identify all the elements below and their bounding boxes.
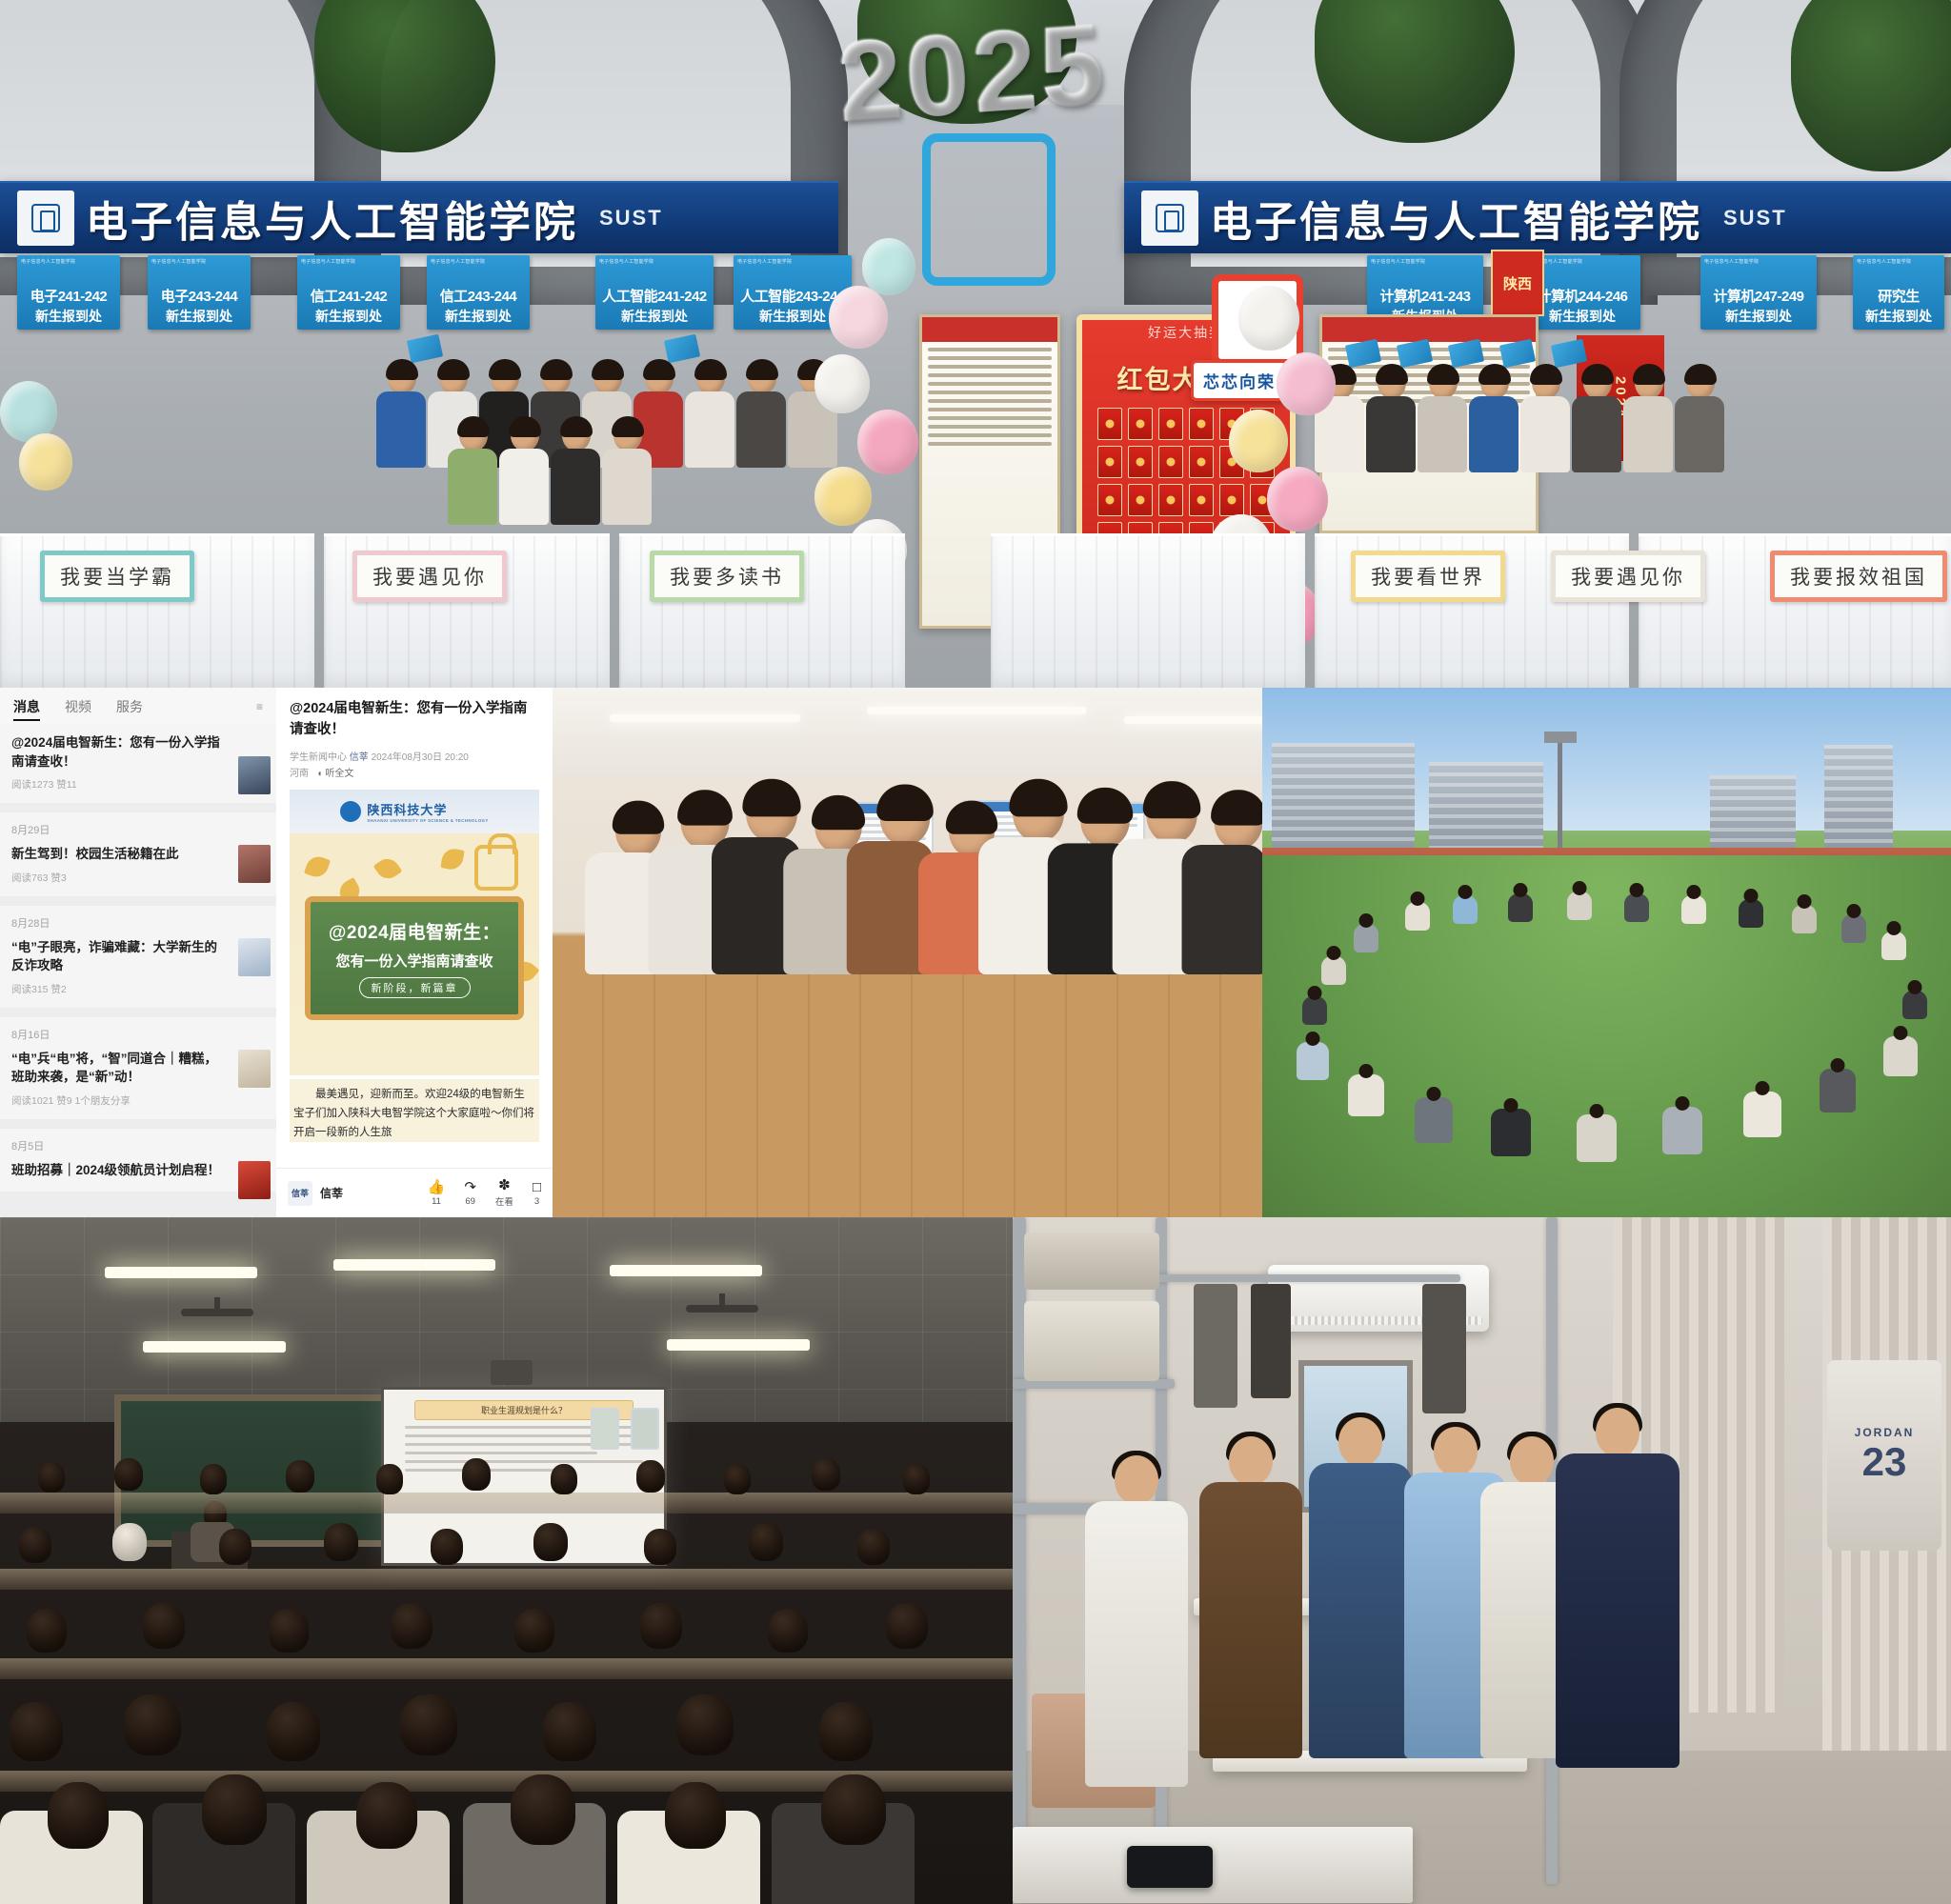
more-icon[interactable]: ≡: [256, 700, 263, 713]
balloon: [19, 433, 72, 491]
article-paragraph: 最美遇见，迎新而至。欢迎24级的电智新生宝子们加入陕科大电智学院这个大家庭啦～你…: [293, 1085, 535, 1142]
seated-student: [1508, 893, 1533, 922]
article-title: 班助招募｜2024级领航员计划启程！: [11, 1161, 265, 1180]
photo-dorm-visit: JORDAN 23: [1013, 1217, 1951, 1904]
seated-student: [1354, 924, 1378, 952]
cover-headline-1: @2024届电智新生：: [329, 918, 500, 944]
balloon: [1229, 410, 1288, 472]
balloon: [815, 354, 870, 413]
desk-flag: 电子信息与人工智能学院 电子241-242 新生报到处: [17, 255, 120, 330]
person: [1469, 367, 1520, 472]
article-stats: 阅读1021 赞9 1个朋友分享: [11, 1093, 265, 1108]
tab-messages[interactable]: 消息: [13, 697, 40, 716]
clothes-rod: [1156, 1274, 1460, 1282]
banner-left-abbr: SUST: [599, 206, 663, 230]
person: [1623, 367, 1675, 472]
desk-flag: 电子信息与人工智能学院 计算机247-249 新生报到处: [1700, 255, 1817, 330]
comment-count: 3: [534, 1196, 539, 1207]
seated-student: [1405, 902, 1430, 931]
article-stats: 阅读315 赞2: [11, 982, 265, 996]
article-datetime: 2024年08月30日 20:20: [372, 752, 469, 763]
chip-slogan-sign: 芯芯向荣: [1191, 360, 1288, 401]
seated-student: [1302, 996, 1327, 1025]
seated-student: [1624, 893, 1649, 922]
floodlight-head: [1544, 732, 1577, 743]
seated-student: [1348, 1074, 1384, 1116]
audience-seating: [0, 1456, 1013, 1904]
seated-student: [1577, 1114, 1617, 1162]
campus-building: [1824, 745, 1893, 850]
side-banner-province: 陕西: [1491, 250, 1544, 316]
person: [1182, 794, 1263, 974]
article-title: 新生驾到！校园生活秘籍在此: [11, 845, 265, 864]
person: [602, 419, 654, 525]
balloon: [829, 286, 888, 349]
like-button[interactable]: 👍 11: [428, 1180, 446, 1207]
ceiling-light: [867, 707, 1086, 714]
balloon: [1267, 467, 1328, 531]
list-item[interactable]: 8月28日 “电”子眼亮，诈骗难藏：大学新生的反诈攻略 阅读315 赞2: [0, 906, 276, 1008]
list-item[interactable]: 8月16日 “电”兵“电”将，“智”同道合｜糟糕，班助来袭，是“新”动！ 阅读1…: [0, 1017, 276, 1119]
article-thumbnail: [238, 1161, 271, 1199]
seated-student: [1883, 1036, 1918, 1076]
thumbs-up-icon: 👍: [428, 1180, 446, 1194]
ceiling-light: [610, 714, 800, 722]
jersey-text: JORDAN: [1855, 1426, 1915, 1439]
wow-label: 在看: [495, 1194, 513, 1208]
wish-sign: 我要遇见你: [352, 551, 507, 602]
seated-student: [1453, 895, 1478, 924]
seated-student: [1662, 1107, 1702, 1154]
ceiling-fan-icon: [686, 1305, 758, 1313]
ceiling: [553, 688, 1262, 778]
person: [551, 419, 602, 525]
person: [1418, 367, 1469, 472]
article-title: “电”子眼亮，诈骗难藏：大学新生的反诈攻略: [11, 938, 265, 975]
campus-building: [1429, 762, 1543, 850]
wish-sign: 我要当学霸: [40, 551, 194, 602]
person: [1520, 367, 1572, 472]
desk-flag: 电子信息与人工智能学院 研究生 新生报到处: [1853, 255, 1944, 330]
hanging-clothes: [1422, 1284, 1466, 1413]
listen-label: 听全文: [325, 766, 353, 782]
comment-button[interactable]: □ 3: [533, 1180, 541, 1207]
cover-headline-2: 您有一份入学指南请查收: [335, 951, 493, 971]
article-stats: 阅读763 赞3: [11, 871, 265, 885]
registration-table: [991, 533, 1305, 688]
cover-university-header: 陕西科技大学 SHAANXI UNIVERSITY OF SCIENCE & T…: [290, 790, 539, 833]
balloon: [1238, 286, 1299, 351]
seated-student: [1491, 1109, 1531, 1156]
student-foreground: [1546, 1408, 1689, 1827]
list-item[interactable]: @2024届电智新生：您有一份入学指南请查收！ 阅读1273 赞11: [0, 724, 276, 803]
leaf-decoration-icon: [440, 847, 464, 871]
wall-poster: [631, 1408, 659, 1450]
seated-student: [1841, 914, 1866, 943]
account-avatar: 信莘: [288, 1181, 312, 1206]
article-thumbnail: [238, 938, 271, 976]
banner-right-abbr: SUST: [1723, 206, 1787, 230]
desk-flag: 电子信息与人工智能学院 信工241-242 新生报到处: [297, 255, 400, 330]
desk-flag: 电子信息与人工智能学院 信工243-244 新生报到处: [427, 255, 530, 330]
person: [499, 419, 551, 525]
backpack-icon: [474, 845, 518, 891]
seated-student: [1739, 899, 1763, 928]
ceiling-light: [1124, 716, 1262, 724]
account-name: 信莘: [320, 1185, 343, 1201]
article-title: @2024届电智新生：您有一份入学指南请查收！: [11, 733, 265, 771]
ceiling-light: [610, 1265, 762, 1276]
person: [448, 419, 499, 525]
list-item[interactable]: 8月5日 班助招募｜2024级领航员计划启程！: [0, 1129, 276, 1192]
circuit-emblem-icon: [922, 133, 1056, 286]
wechat-article-list-screenshot: 消息 视频 服务 ≡ @2024届电智新生：您有一份入学指南请查收！ 阅读127…: [0, 688, 276, 1217]
leaf-decoration-icon: [304, 852, 331, 879]
campus-building: [1710, 775, 1796, 850]
comment-bubble-icon: □: [533, 1180, 541, 1194]
tab-services[interactable]: 服务: [116, 697, 143, 716]
hanging-clothes: [1251, 1284, 1291, 1398]
article-stats: 阅读1273 赞11: [11, 777, 265, 792]
photo-registration-booths: 2025 电子信息与人工智能学院 SUST 电子信息与人工智能学院 SUST 电…: [0, 0, 1951, 688]
seated-student: [1881, 932, 1906, 960]
chalkboard-graphic: @2024届电智新生： 您有一份入学指南请查收 新阶段，新篇章: [305, 896, 524, 1020]
student-group-right: [1315, 367, 1726, 472]
projector: [491, 1360, 533, 1385]
photo-student-group-indoor: [553, 688, 1262, 1217]
banner-left-college: 电子信息与人工智能学院: [86, 188, 578, 249]
counselor: [1189, 1436, 1313, 1817]
balloon-year-digits: 2025: [835, 0, 1113, 149]
hanging-jersey: JORDAN 23: [1827, 1360, 1941, 1551]
wall-poster: [591, 1408, 619, 1450]
article-thumbnail: [238, 1050, 271, 1088]
seated-student: [1902, 991, 1927, 1019]
ceiling-light: [667, 1339, 810, 1351]
seated-student: [1297, 1042, 1329, 1080]
desk-flag: 电子信息与人工智能学院 人工智能241-242 新生报到处: [595, 255, 714, 330]
banner-right-college: 电子信息与人工智能学院: [1210, 188, 1702, 249]
seated-student: [1792, 905, 1817, 933]
balloon: [815, 467, 872, 526]
photo-sports-field-circle: [1262, 688, 1951, 1217]
bedding: [1024, 1301, 1159, 1381]
listen-button[interactable]: ◖ 听全文: [316, 766, 353, 782]
seated-student: [1820, 1069, 1856, 1112]
article-thumbnail: [238, 756, 271, 794]
jersey-number: 23: [1862, 1439, 1907, 1485]
wish-sign: 我要多读书: [650, 551, 804, 602]
share-arrow-icon: ↷: [464, 1180, 476, 1194]
ceiling-fan-icon: [181, 1309, 253, 1316]
person: [736, 362, 788, 468]
wish-sign: 我要报效祖国: [1770, 551, 1947, 602]
seated-student: [1321, 956, 1346, 985]
share-button[interactable]: ↷ 69: [464, 1180, 476, 1207]
eiai-logo-icon: [17, 190, 74, 246]
wood-floor: [553, 941, 1262, 1217]
person: [1366, 367, 1418, 472]
like-count: 11: [432, 1196, 441, 1207]
university-name: 陕西科技大学 SHAANXI UNIVERSITY OF SCIENCE & T…: [367, 800, 488, 823]
banner-left: 电子信息与人工智能学院 SUST: [0, 181, 838, 253]
tab-videos[interactable]: 视频: [65, 697, 91, 716]
seated-student: [1415, 1097, 1453, 1143]
article-account: 信莘: [350, 752, 369, 763]
person: [685, 362, 736, 468]
wish-sign: 我要遇见你: [1551, 551, 1705, 602]
headphone-icon: ◖: [316, 766, 322, 782]
article-thumbnail: [238, 845, 271, 883]
floodlight-pole: [1558, 737, 1562, 850]
leaf-decoration-icon: [373, 853, 403, 883]
cover-pill-label: 新阶段，新篇章: [359, 977, 471, 998]
university-logo-icon: [340, 801, 361, 822]
person: [376, 362, 428, 468]
article-body: 最美遇见，迎新而至。欢迎24级的电智新生宝子们加入陕科大电智学院这个大家庭啦～你…: [290, 1079, 539, 1142]
seated-student: [1567, 892, 1592, 920]
ceiling-light: [105, 1267, 257, 1278]
seated-student: [1681, 895, 1706, 924]
ceiling-light: [143, 1341, 286, 1353]
student-group-left-front: [448, 419, 654, 525]
student-group: [605, 869, 1262, 974]
banner-right: 电子信息与人工智能学院 SUST: [1124, 181, 1951, 253]
student-back-view: [1070, 1455, 1203, 1855]
article-title: “电”兵“电”将，“智”同道合｜糟糕，班助来袭，是“新”动！: [11, 1050, 265, 1087]
person: [1572, 367, 1623, 472]
share-count: 69: [465, 1196, 475, 1207]
balloon: [862, 238, 915, 295]
wechat-article-detail-screenshot: @2024届电智新生：您有一份入学指南请查收！ 学生新闻中心 信莘 2024年0…: [276, 688, 553, 1217]
desk-flag: 电子信息与人工智能学院 电子243-244 新生报到处: [148, 255, 251, 330]
article-cover-image: 陕西科技大学 SHAANXI UNIVERSITY OF SCIENCE & T…: [290, 790, 539, 1075]
article-source: 学生新闻中心: [290, 752, 347, 763]
photo-lecture-hall: 职业生涯规划是什么？: [0, 1217, 1013, 1904]
article-date: 8月5日: [11, 1138, 265, 1153]
ceiling-light: [333, 1259, 495, 1271]
balloon: [857, 410, 918, 474]
article-date: 8月16日: [11, 1027, 265, 1042]
campus-building: [1272, 743, 1415, 850]
article-action-bar: 信莘 信莘 👍 11 ↷ 69 ✽ 在看 □ 3: [276, 1168, 553, 1217]
article-date: 8月29日: [11, 822, 265, 837]
wish-sign: 我要看世界: [1351, 551, 1505, 602]
article-date: 8月28日: [11, 915, 265, 931]
wow-button[interactable]: ✽ 在看: [495, 1178, 513, 1208]
seated-student: [1743, 1092, 1781, 1137]
article-byline: 学生新闻中心 信莘 2024年08月30日 20:20 河南 ◖ 听全文: [290, 750, 539, 782]
article-location: 河南: [290, 769, 309, 779]
balloon: [1277, 352, 1336, 415]
bedding: [1024, 1233, 1159, 1290]
article-headline: @2024届电智新生：您有一份入学指南请查收！: [290, 699, 539, 741]
eiai-logo-icon: [1141, 190, 1198, 246]
hanging-clothes: [1194, 1284, 1237, 1408]
wechat-tab-bar: 消息 视频 服务 ≡: [0, 688, 276, 724]
flower-icon: ✽: [498, 1178, 511, 1193]
list-item[interactable]: 8月29日 新生驾到！校园生活秘籍在此 阅读763 赞3: [0, 812, 276, 896]
photo-collage: 2025 电子信息与人工智能学院 SUST 电子信息与人工智能学院 SUST 电…: [0, 0, 1951, 1904]
person: [1675, 367, 1726, 472]
